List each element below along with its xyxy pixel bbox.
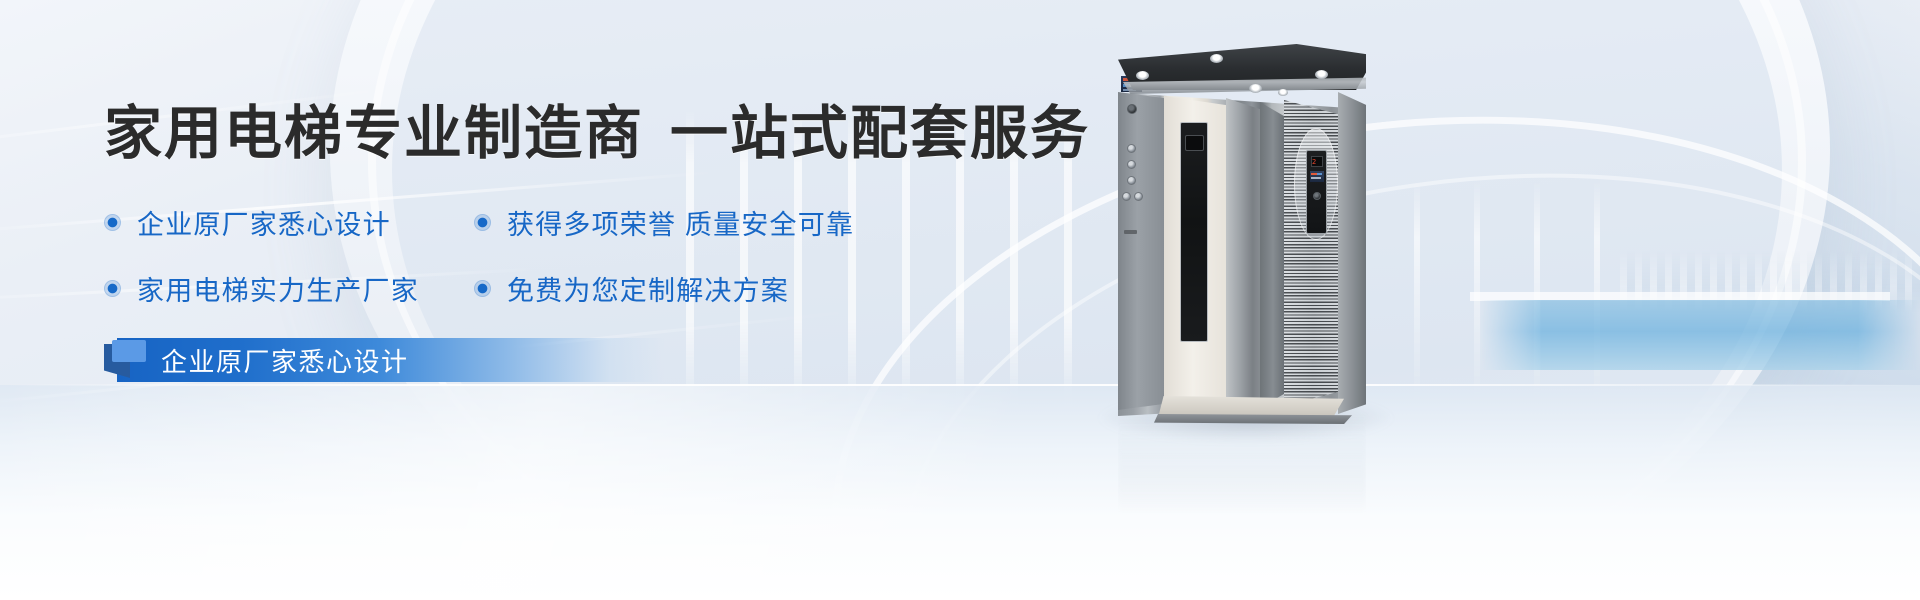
door-open-button [1122, 192, 1131, 201]
feature-list: 企业原厂家悉心设计 获得多项荣誉 质量安全可靠 家用电梯实力生产厂家 免费为您定… [104, 203, 1104, 308]
elevator-pillar [1226, 98, 1264, 410]
floor-button [1127, 160, 1136, 169]
door-panel-speaker-icon [1313, 192, 1321, 200]
banner-headline: 家用电梯专业制造商一站式配套服务 [104, 104, 1104, 165]
ceiling-light-icon [1210, 54, 1223, 63]
ribbon-tab-shape [112, 340, 146, 362]
ribbon-bar: 企业原厂家悉心设计 [117, 338, 664, 382]
ceiling-light-icon [1278, 89, 1288, 96]
elevator-right-frame [1338, 92, 1366, 414]
distant-cityscape [1620, 250, 1920, 312]
floor-horizon-line [0, 384, 1920, 386]
feature-item: 企业原厂家悉心设计 [104, 203, 464, 242]
bullet-dot-icon [104, 214, 121, 231]
highlight-ribbon: 企业原厂家悉心设计 [104, 338, 664, 382]
bullet-dot-icon [104, 280, 121, 297]
feature-item: 获得多项荣誉 质量安全可靠 [474, 203, 1104, 242]
water-band [1480, 300, 1920, 370]
ceiling-light-icon [1315, 70, 1328, 79]
floor-button [1127, 144, 1136, 153]
ceiling-light-icon [1249, 84, 1262, 93]
floor-button [1127, 176, 1136, 185]
panel-speaker-icon [1127, 104, 1137, 114]
elevator-door-sill [1154, 414, 1352, 424]
ribbon-label: 企业原厂家悉心设计 [161, 342, 409, 379]
panel-brand-logo [1124, 230, 1137, 234]
ceiling-light-icon [1136, 71, 1149, 80]
feature-label: 家用电梯实力生产厂家 [137, 269, 419, 308]
door-floor-indicator-digit: 2 [1312, 158, 1316, 166]
promo-banner: 5 2 家用电梯专业制造商一站 [0, 0, 1920, 600]
reflective-floor [0, 385, 1920, 600]
banner-copy-block: 家用电梯专业制造商一站式配套服务 企业原厂家悉心设计 获得多项荣誉 质量安全可靠… [104, 104, 1104, 308]
door-panel-lcd-line [1311, 177, 1321, 179]
feature-label: 获得多项荣誉 质量安全可靠 [507, 203, 854, 242]
feature-item: 免费为您定制解决方案 [474, 269, 1104, 308]
elevator-pillar-secondary [1260, 102, 1286, 408]
door-close-button [1134, 192, 1143, 201]
feature-label: 免费为您定制解决方案 [507, 269, 789, 308]
feature-item: 家用电梯实力生产厂家 [104, 269, 464, 308]
floor-sheen [0, 385, 1920, 600]
door-panel-lcd-line [1311, 173, 1322, 175]
bridge-deck [1470, 292, 1890, 301]
elevator-left-jamb [1118, 92, 1166, 410]
bullet-dot-icon [474, 280, 491, 297]
home-elevator-cabin-image: 5 2 [1118, 44, 1366, 416]
headline-part-1: 家用电梯专业制造商 [104, 101, 644, 166]
elevator-control-panel [1180, 122, 1208, 342]
headline-part-2: 一站式配套服务 [670, 101, 1090, 166]
feature-label: 企业原厂家悉心设计 [137, 203, 391, 242]
bullet-dot-icon [474, 214, 491, 231]
floor-display-screen [1185, 135, 1204, 151]
